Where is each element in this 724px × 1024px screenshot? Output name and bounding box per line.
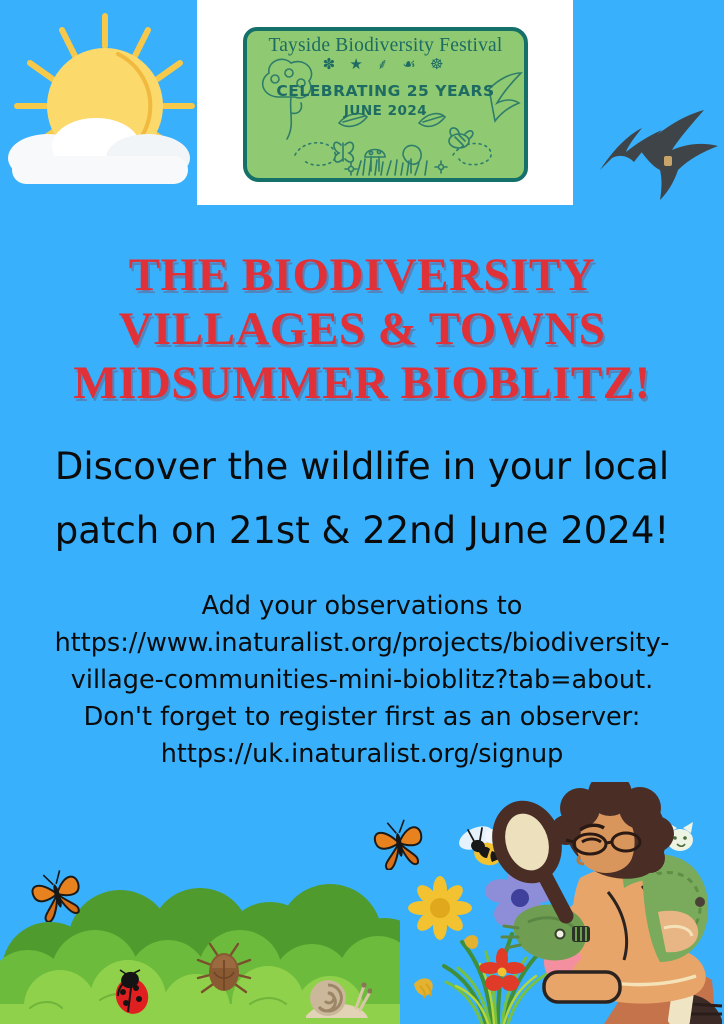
flower-pink-tulip: [544, 926, 596, 986]
bush-mid-layer: [0, 930, 400, 1024]
subtitle-line-2: patch on 21st & 22nd June 2024!: [22, 499, 702, 563]
project-url-line-1[interactable]: https://www.inaturalist.org/projects/bio…: [12, 625, 712, 662]
green-bushes-illustration: [0, 880, 400, 1024]
person-with-magnifier-illustration: [484, 782, 724, 1024]
sun-rays-icon: [17, 16, 192, 176]
bee-icon: [454, 820, 518, 876]
logo-icon-row: ✽ ★ ⸙ ☙ ☸: [243, 57, 528, 72]
cloud-icon: [8, 118, 190, 184]
subtitle: Discover the wildlife in your local patc…: [22, 435, 702, 563]
magnifying-glass-icon: [484, 792, 572, 916]
shield-bug-icon: [192, 936, 256, 1000]
body-line-1: Add your observations to: [12, 588, 712, 625]
logo-festival-title: Tayside Biodiversity Festival: [243, 35, 528, 57]
flower-red: [479, 948, 525, 991]
sun-disc-icon: [47, 48, 163, 164]
page-title: THE BIODIVERSITY VILLAGES & TOWNS MIDSUM…: [0, 248, 724, 410]
flower-yellow: [408, 876, 472, 940]
ladybird-icon: [108, 968, 156, 1016]
logo-month-text: JUNE 2024: [243, 103, 528, 119]
body-line-4: Don't forget to register first as an obs…: [12, 699, 712, 736]
headline-line-3: MIDSUMMER BIOBLITZ!: [0, 356, 724, 410]
swift-bird-large-icon: [640, 110, 718, 200]
sun-with-cloud-illustration: [0, 8, 200, 188]
flower-purple: [485, 868, 555, 927]
wildflower-cluster: [392, 868, 612, 1024]
body-paragraph: Add your observations to https://www.ina…: [12, 588, 712, 773]
logo-celebrating-text: CELEBRATING 25 YEARS: [243, 82, 528, 100]
glasses-icon: [566, 833, 640, 854]
swift-bird-small-icon: [600, 128, 662, 170]
flower-yellow-buds: [414, 935, 478, 998]
signup-url[interactable]: https://uk.inaturalist.org/signup: [12, 736, 712, 773]
poster-canvas: Tayside Biodiversity Festival ✽ ★ ⸙ ☙ ☸ …: [0, 0, 724, 1024]
cat-badge-icon: [667, 822, 693, 851]
subtitle-line-1: Discover the wildlife in your local: [22, 435, 702, 499]
grass-blades: [444, 934, 550, 1024]
snail-icon: [300, 968, 372, 1024]
festival-logo-card: Tayside Biodiversity Festival ✽ ★ ⸙ ☙ ☸ …: [243, 27, 528, 182]
bush-front-layer: [0, 960, 400, 1024]
project-url-line-2[interactable]: village-communities-mini-bioblitz?tab=ab…: [12, 662, 712, 699]
headline-line-2: VILLAGES & TOWNS: [0, 302, 724, 356]
butterfly-orange-left: [28, 866, 86, 922]
swift-birds-illustration: [578, 96, 724, 204]
butterfly-orange-mid: [370, 816, 428, 870]
bush-back-layer: [0, 884, 400, 1024]
headline-line-1: THE BIODIVERSITY: [0, 248, 724, 302]
